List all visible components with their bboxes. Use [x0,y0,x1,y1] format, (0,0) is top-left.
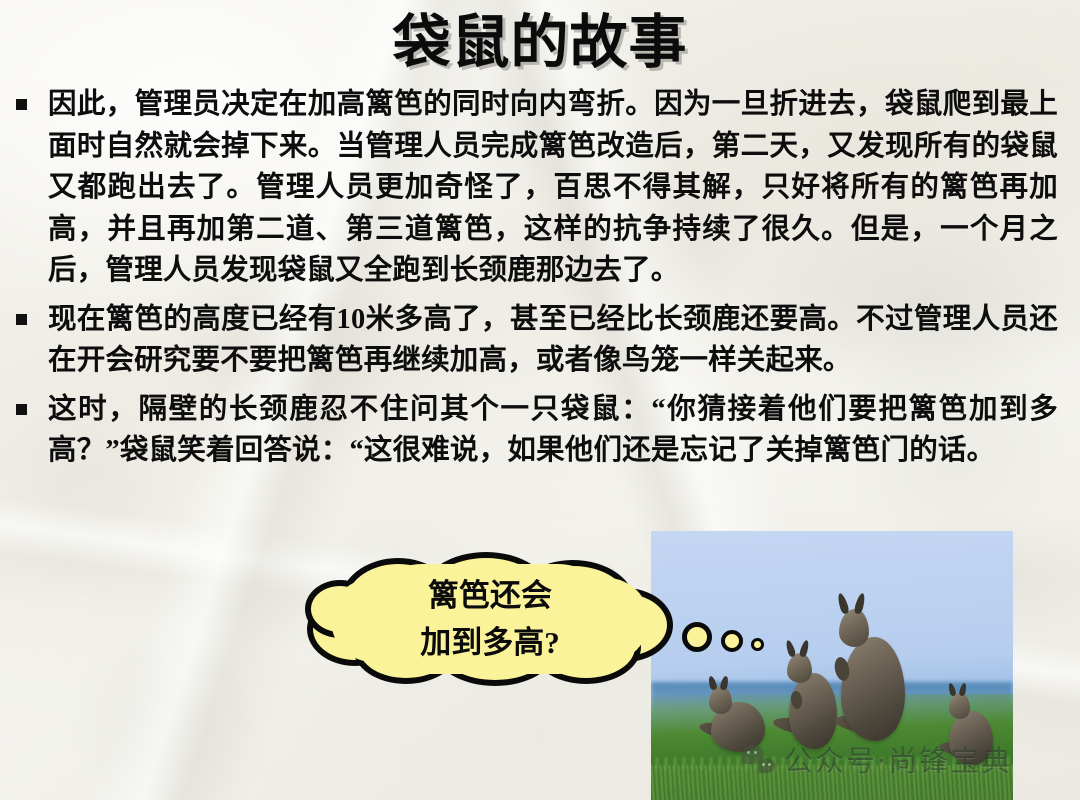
kangaroo-ear [799,639,810,657]
watermark-text: 公众号·尚锋宝典 [784,738,1012,780]
kangaroo-ear [959,682,968,696]
slide-canvas: 袋鼠的故事 因此，管理员决定在加高篱笆的同时向内弯折。因为一旦折进去，袋鼠爬到最… [0,0,1080,800]
kangaroo-head [839,609,869,647]
bullet-text-2: 现在篱笆的高度已经有10米多高了，甚至已经比长颈鹿还要高。不过管理人员还在开会研… [48,299,1058,382]
kangaroo-ear [719,675,729,690]
body-content: 因此，管理员决定在加高篱笆的同时向内弯折。因为一旦折进去，袋鼠爬到最上面时自然就… [0,84,1080,479]
watermark: 公众号·尚锋宝典 [742,738,1012,780]
kangaroo-head [949,693,970,719]
bullet-item-2: 现在篱笆的高度已经有10米多高了，甚至已经比长颈鹿还要高。不过管理人员还在开会研… [0,299,1080,382]
thought-bubble: 篱笆还会 加到多高? [305,552,675,686]
bullet-text-1: 因此，管理员决定在加高篱笆的同时向内弯折。因为一旦折进去，袋鼠爬到最上面时自然就… [48,84,1058,292]
square-bullet-icon [16,99,27,110]
kangaroo-3 [829,593,913,745]
slide-title: 袋鼠的故事 [0,6,1080,78]
thought-dot-medium [721,630,743,652]
square-bullet-icon [16,314,27,325]
square-bullet-icon [16,404,27,415]
kangaroo-body [841,637,905,741]
wechat-icon [742,745,775,773]
wechat-bubble-small [758,758,775,773]
kangaroo-ear [707,675,718,690]
bullet-item-1: 因此，管理员决定在加高篱笆的同时向内弯折。因为一旦折进去，袋鼠爬到最上面时自然就… [0,84,1080,292]
kangaroo-ear [785,639,797,657]
thought-dot-small [751,638,764,651]
bullet-item-3: 这时，隔壁的长颈鹿忍不住问其个一只袋鼠：“你猜接着他们要把篱笆加到多高？”袋鼠笑… [0,389,1080,472]
kangaroo-ear [947,682,956,696]
bubble-text: 篱笆还会 加到多高? [305,572,675,666]
thought-dot-large [682,622,712,652]
kangaroo-ear [853,592,866,614]
kangaroo-head [787,653,812,683]
bullet-text-3: 这时，隔壁的长颈鹿忍不住问其个一只袋鼠：“你猜接着他们要把篱笆加到多高？”袋鼠笑… [48,389,1058,472]
kangaroo-ear [836,592,850,614]
